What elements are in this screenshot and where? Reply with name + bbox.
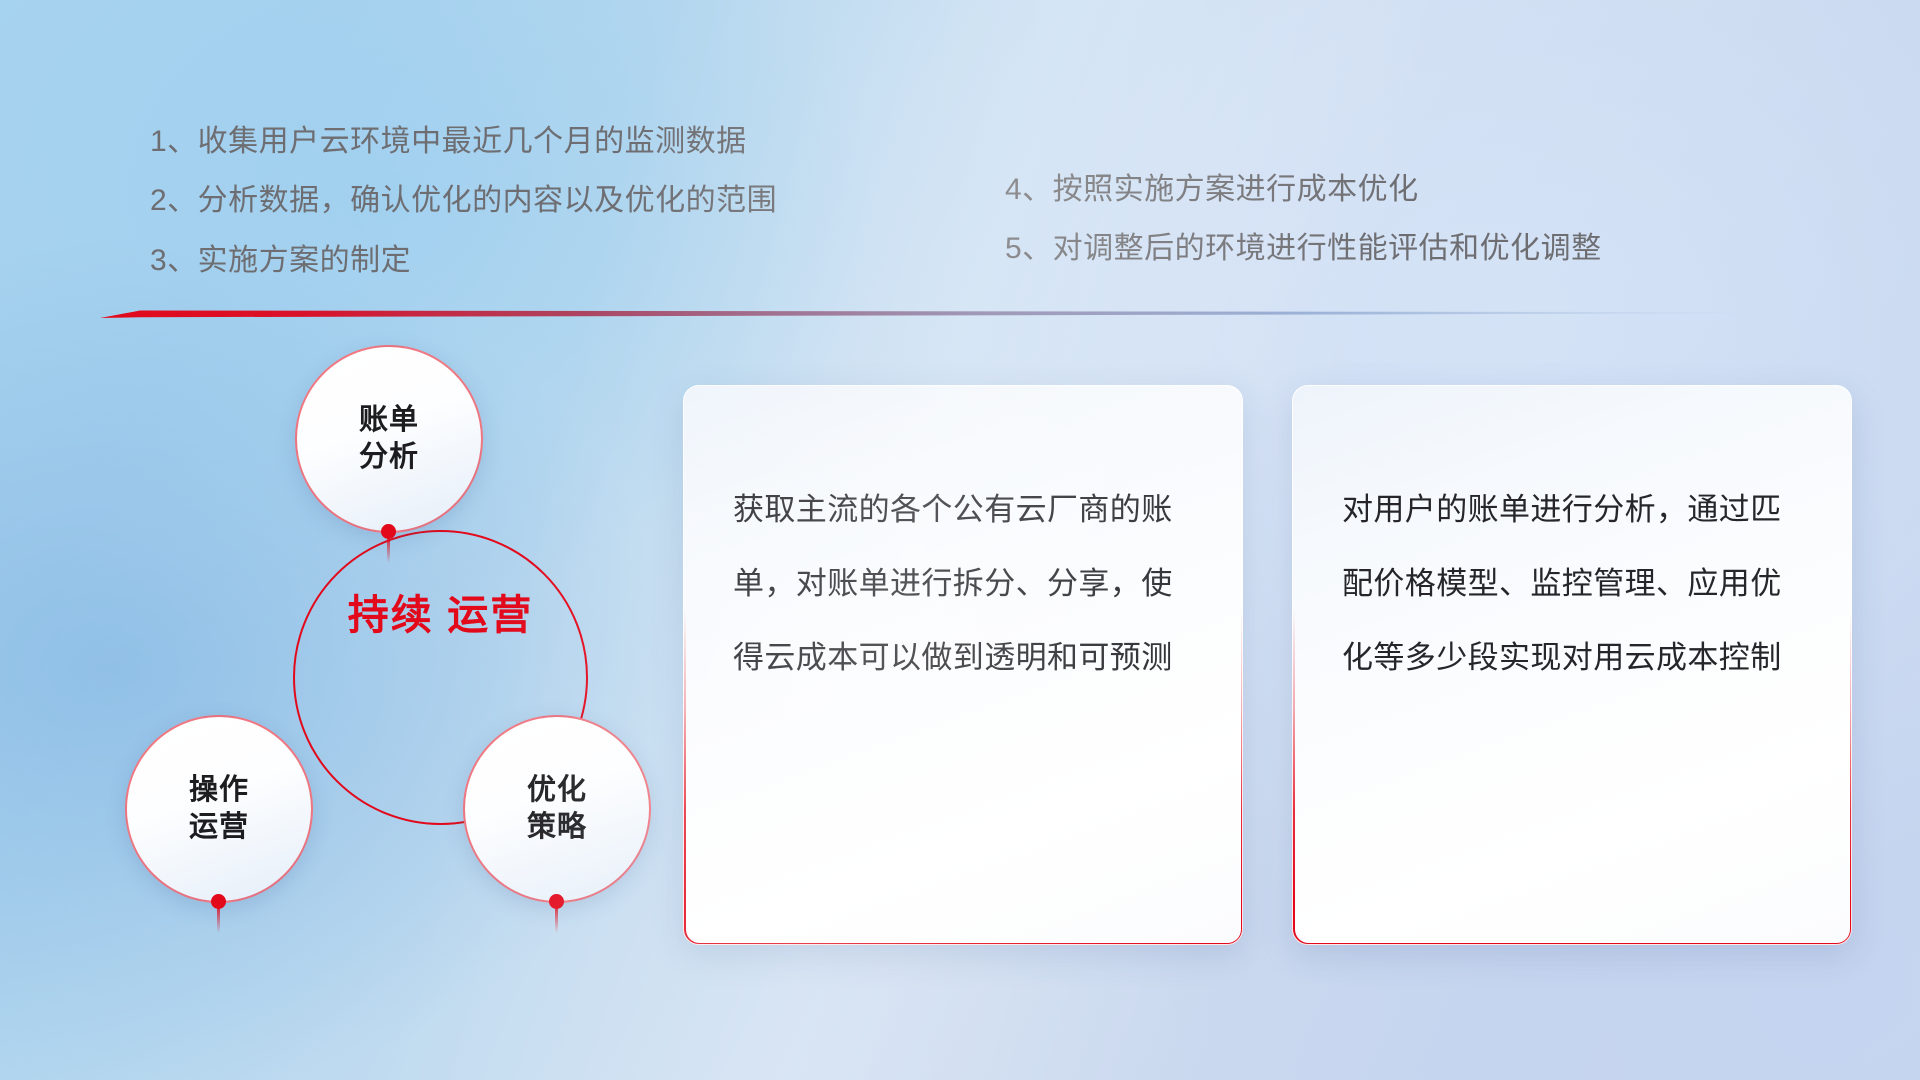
process-step-item: 3、实施方案的制定 (150, 231, 777, 290)
diagram-bubble-optimization-strategy[interactable]: 优化 策略 (463, 715, 651, 903)
bubble-label-line-2: 策略 (527, 809, 587, 846)
process-step-item: 4、按照实施方案进行成本优化 (1005, 160, 1602, 219)
diagram-bubble-billing-analysis[interactable]: 账单 分析 (295, 345, 483, 533)
center-label-line-2: 运营 (447, 592, 533, 638)
process-steps-right: 4、按照实施方案进行成本优化 5、对调整后的环境进行性能评估和优化调整 (1005, 160, 1602, 279)
bubble-label-line-1: 账单 (359, 402, 419, 439)
diagram-center-label: 持续 运营 (293, 590, 588, 642)
bubble-label-line-1: 优化 (527, 772, 587, 809)
bubble-label-line-1: 操作 (189, 772, 249, 809)
process-step-item: 1、收集用户云环境中最近几个月的监测数据 (150, 112, 777, 171)
slide-canvas: 1、收集用户云环境中最近几个月的监测数据 2、分析数据，确认优化的内容以及优化的… (0, 0, 1920, 1080)
continuous-operations-diagram: 持续 运营 账单 分析 操作 运营 优化 策略 (95, 345, 655, 955)
feature-card-cloud-cost-optimization[interactable]: 对用户的账单进行分析，通过匹配价格模型、监控管理、应用优化等多少段实现对用云成本… (1292, 385, 1852, 945)
section-divider (100, 305, 1800, 321)
process-steps-left: 1、收集用户云环境中最近几个月的监测数据 2、分析数据，确认优化的内容以及优化的… (150, 112, 777, 290)
bubble-label-line-2: 运营 (189, 809, 249, 846)
diagram-node-dot-icon (381, 524, 396, 539)
feature-card-multicloud-billing[interactable]: 获取主流的各个公有云厂商的账单，对账单进行拆分、分享，使得云成本可以做到透明和可… (683, 385, 1243, 945)
bubble-label-line-2: 分析 (359, 439, 419, 476)
diagram-node-dot-icon (549, 894, 564, 909)
card-description: 对用户的账单进行分析，通过匹配价格模型、监控管理、应用优化等多少段实现对用云成本… (1342, 473, 1806, 694)
center-label-line-1: 持续 (348, 592, 434, 638)
card-description: 获取主流的各个公有云厂商的账单，对账单进行拆分、分享，使得云成本可以做到透明和可… (733, 473, 1197, 694)
diagram-node-dot-icon (211, 894, 226, 909)
diagram-bubble-operations[interactable]: 操作 运营 (125, 715, 313, 903)
process-step-item: 5、对调整后的环境进行性能评估和优化调整 (1005, 219, 1602, 278)
process-step-item: 2、分析数据，确认优化的内容以及优化的范围 (150, 171, 777, 230)
